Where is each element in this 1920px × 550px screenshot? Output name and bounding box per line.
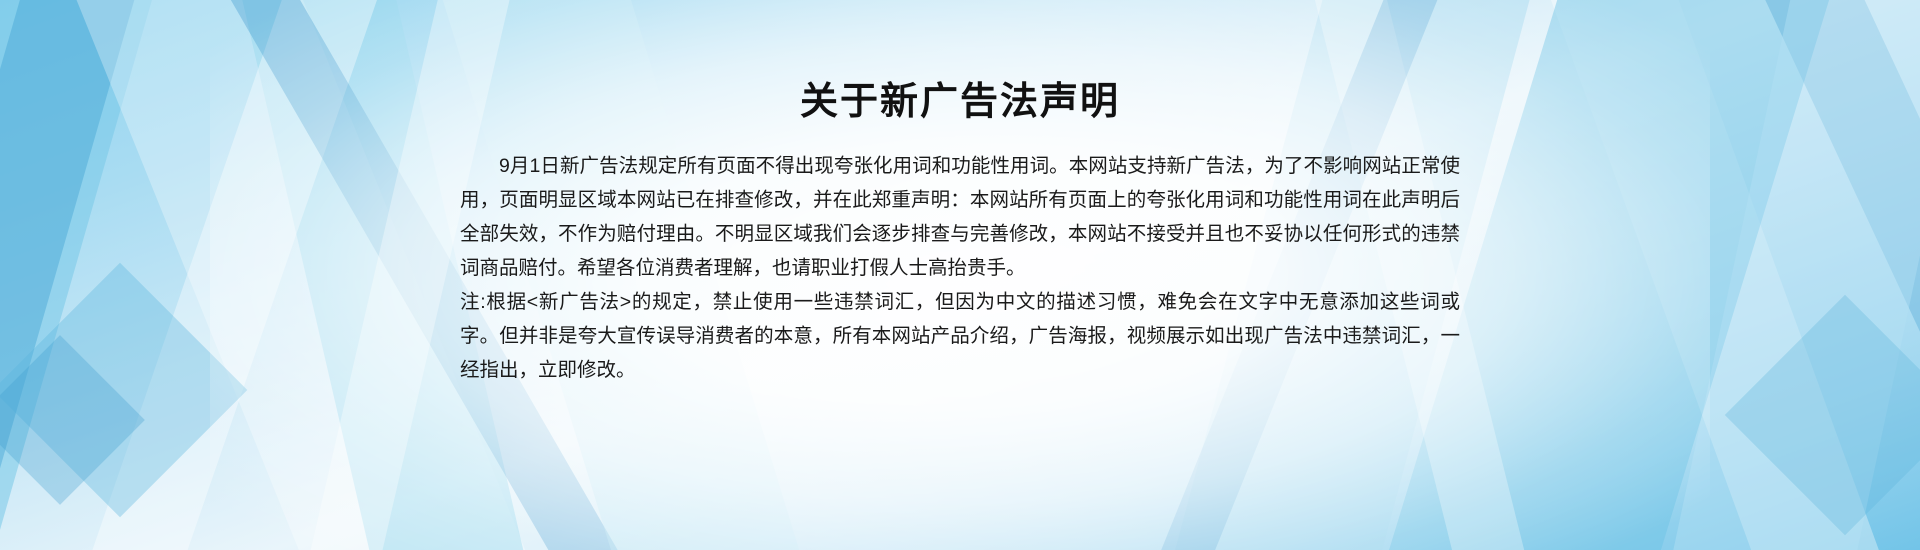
statement-paragraph-main: 9月1日新广告法规定所有页面不得出现夸张化用词和功能性用词。本网站支持新广告法，… [460, 149, 1460, 285]
advertising-law-statement-banner: 关于新广告法声明 9月1日新广告法规定所有页面不得出现夸张化用词和功能性用词。本… [0, 0, 1920, 550]
statement-content: 关于新广告法声明 9月1日新广告法规定所有页面不得出现夸张化用词和功能性用词。本… [460, 0, 1460, 550]
page-title: 关于新广告法声明 [460, 0, 1460, 127]
background-diamond-right-1 [1725, 295, 1920, 535]
statement-paragraph-note: 注:根据<新广告法>的规定，禁止使用一些违禁词汇，但因为中文的描述习惯，难免会在… [460, 285, 1460, 387]
